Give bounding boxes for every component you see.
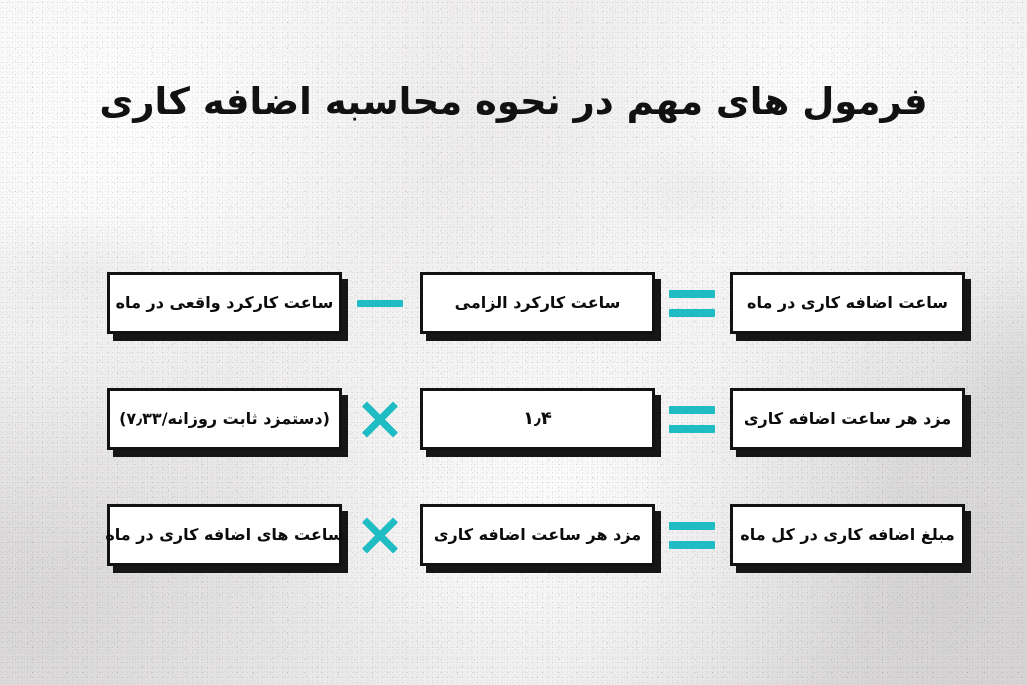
operand-box-coefficient: ۱٫۴ [420,388,655,450]
equals-sign-icon [669,272,715,334]
multiply-sign-icon [357,504,403,566]
formula-row-overtime-hours: ساعت اضافه کاری در ماه ساعت کارکرد الزام… [0,272,1027,352]
operand-box-overtime-hourly-wage: مزد هر ساعت اضافه کاری [420,504,655,566]
equals-bar-top [669,290,715,298]
operand-label: ۱٫۴ [523,408,552,430]
infographic-canvas: فرمول های مهم در نحوه محاسبه اضافه کاری … [0,0,1027,685]
operand-label: ساعت کارکرد الزامی [455,293,621,312]
result-box-total-overtime-amount: مبلغ اضافه کاری در کل ماه [730,504,965,566]
result-label: مزد هر ساعت اضافه کاری [744,409,951,428]
operand-label: ساعت های اضافه کاری در ماه [105,525,343,544]
equals-sign-icon [669,504,715,566]
operand-box-daily-wage-divided: (دستمزد ثابت روزانه/۷٫۳۳) [107,388,342,450]
equals-bar-top [669,406,715,414]
operand-label: (دستمزد ثابت روزانه/۷٫۳۳) [119,409,330,428]
formula-list: ساعت اضافه کاری در ماه ساعت کارکرد الزام… [0,272,1027,584]
equals-bar-bottom [669,309,715,317]
result-box-overtime-hourly-wage: مزد هر ساعت اضافه کاری [730,388,965,450]
multiply-sign-icon [357,388,403,450]
equals-bar-bottom [669,425,715,433]
equals-bar-top [669,522,715,530]
page-title: فرمول های مهم در نحوه محاسبه اضافه کاری [0,77,1027,127]
operand-label: مزد هر ساعت اضافه کاری [434,525,641,544]
equals-bar-bottom [669,541,715,549]
formula-row-overtime-hourly-wage: مزد هر ساعت اضافه کاری ۱٫۴ (دستمزد ثابت … [0,388,1027,468]
equals-sign-icon [669,388,715,450]
result-box-overtime-hours: ساعت اضافه کاری در ماه [730,272,965,334]
result-label: مبلغ اضافه کاری در کل ماه [740,525,954,544]
formula-row-total-overtime-amount: مبلغ اضافه کاری در کل ماه مزد هر ساعت اض… [0,504,1027,584]
result-label: ساعت اضافه کاری در ماه [747,293,948,312]
operand-box-actual-hours: ساعت کارکرد واقعی در ماه [107,272,342,334]
minus-sign-icon [357,272,403,334]
operand-box-monthly-overtime-hours: ساعت های اضافه کاری در ماه [107,504,342,566]
operand-label: ساعت کارکرد واقعی در ماه [116,293,334,312]
operand-box-required-hours: ساعت کارکرد الزامی [420,272,655,334]
